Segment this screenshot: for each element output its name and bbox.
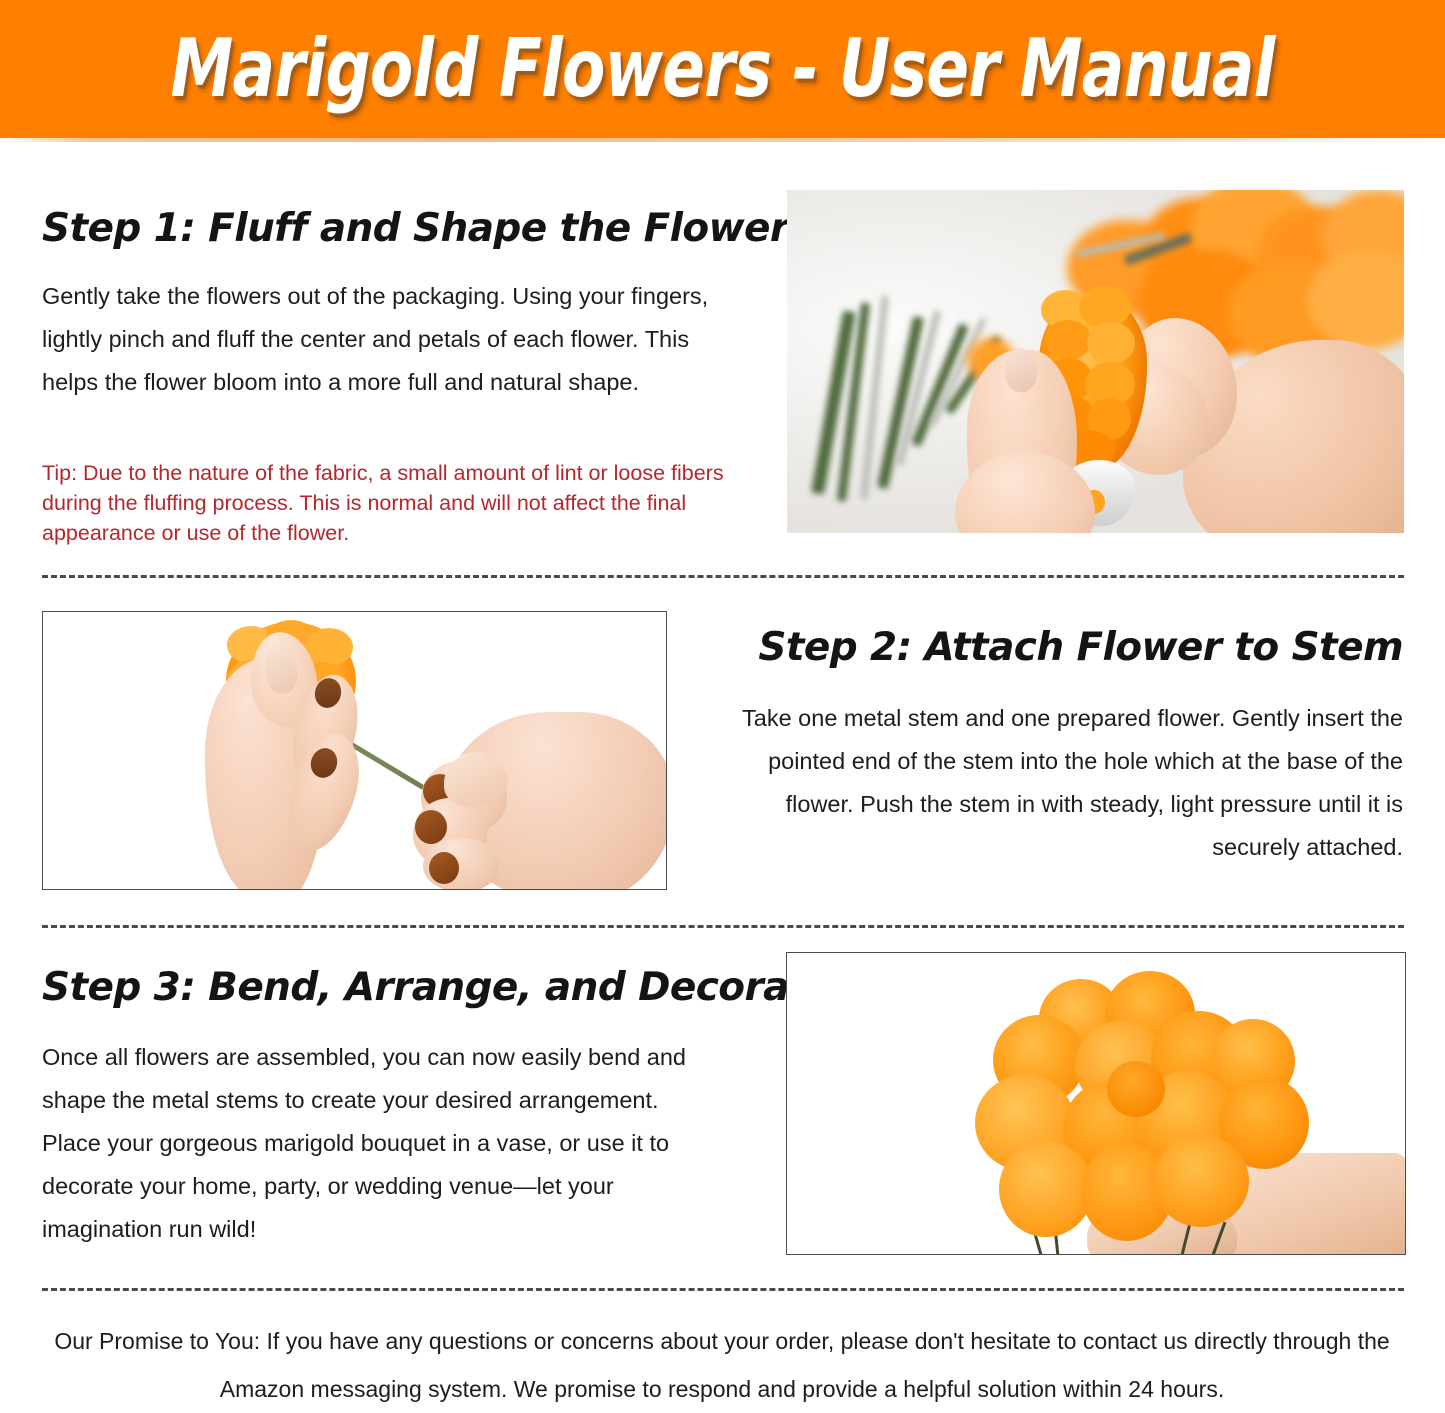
petal — [1045, 320, 1091, 360]
step-2-body-text: Take one metal stem and one prepared flo… — [713, 697, 1403, 869]
step-3-photo — [786, 952, 1406, 1255]
page-title: Marigold Flowers - User Manual — [153, 29, 1293, 109]
fingernail — [429, 852, 459, 884]
step-3-body-text: Once all flowers are assembled, you can … — [42, 1036, 707, 1251]
step-1-body-text: Gently take the flowers out of the packa… — [42, 275, 742, 404]
marigold-flower — [1153, 1135, 1249, 1227]
step-1-tip-text: Tip: Due to the nature of the fabric, a … — [42, 458, 754, 548]
step-2-heading: Step 2: Attach Flower to Stem — [758, 628, 1403, 669]
page-header: Marigold Flowers - User Manual — [0, 0, 1445, 138]
fingernail — [1005, 348, 1037, 392]
fingernail — [415, 810, 447, 844]
step-1-photo — [787, 190, 1404, 533]
petal — [1087, 322, 1135, 364]
step-3-heading: Step 3: Bend, Arrange, and Decorate! — [42, 968, 850, 1009]
step-1-heading: Step 1: Fluff and Shape the Flowers — [42, 209, 811, 250]
step-2-photo — [42, 611, 667, 890]
section-divider — [42, 1288, 1404, 1291]
marigold-flower — [999, 1141, 1093, 1237]
marigold-flower — [1107, 1061, 1165, 1117]
promise-text: Our Promise to You: If you have any ques… — [42, 1317, 1402, 1413]
section-divider — [42, 925, 1404, 928]
header-underline-rule — [0, 138, 1445, 142]
section-divider — [42, 575, 1404, 578]
